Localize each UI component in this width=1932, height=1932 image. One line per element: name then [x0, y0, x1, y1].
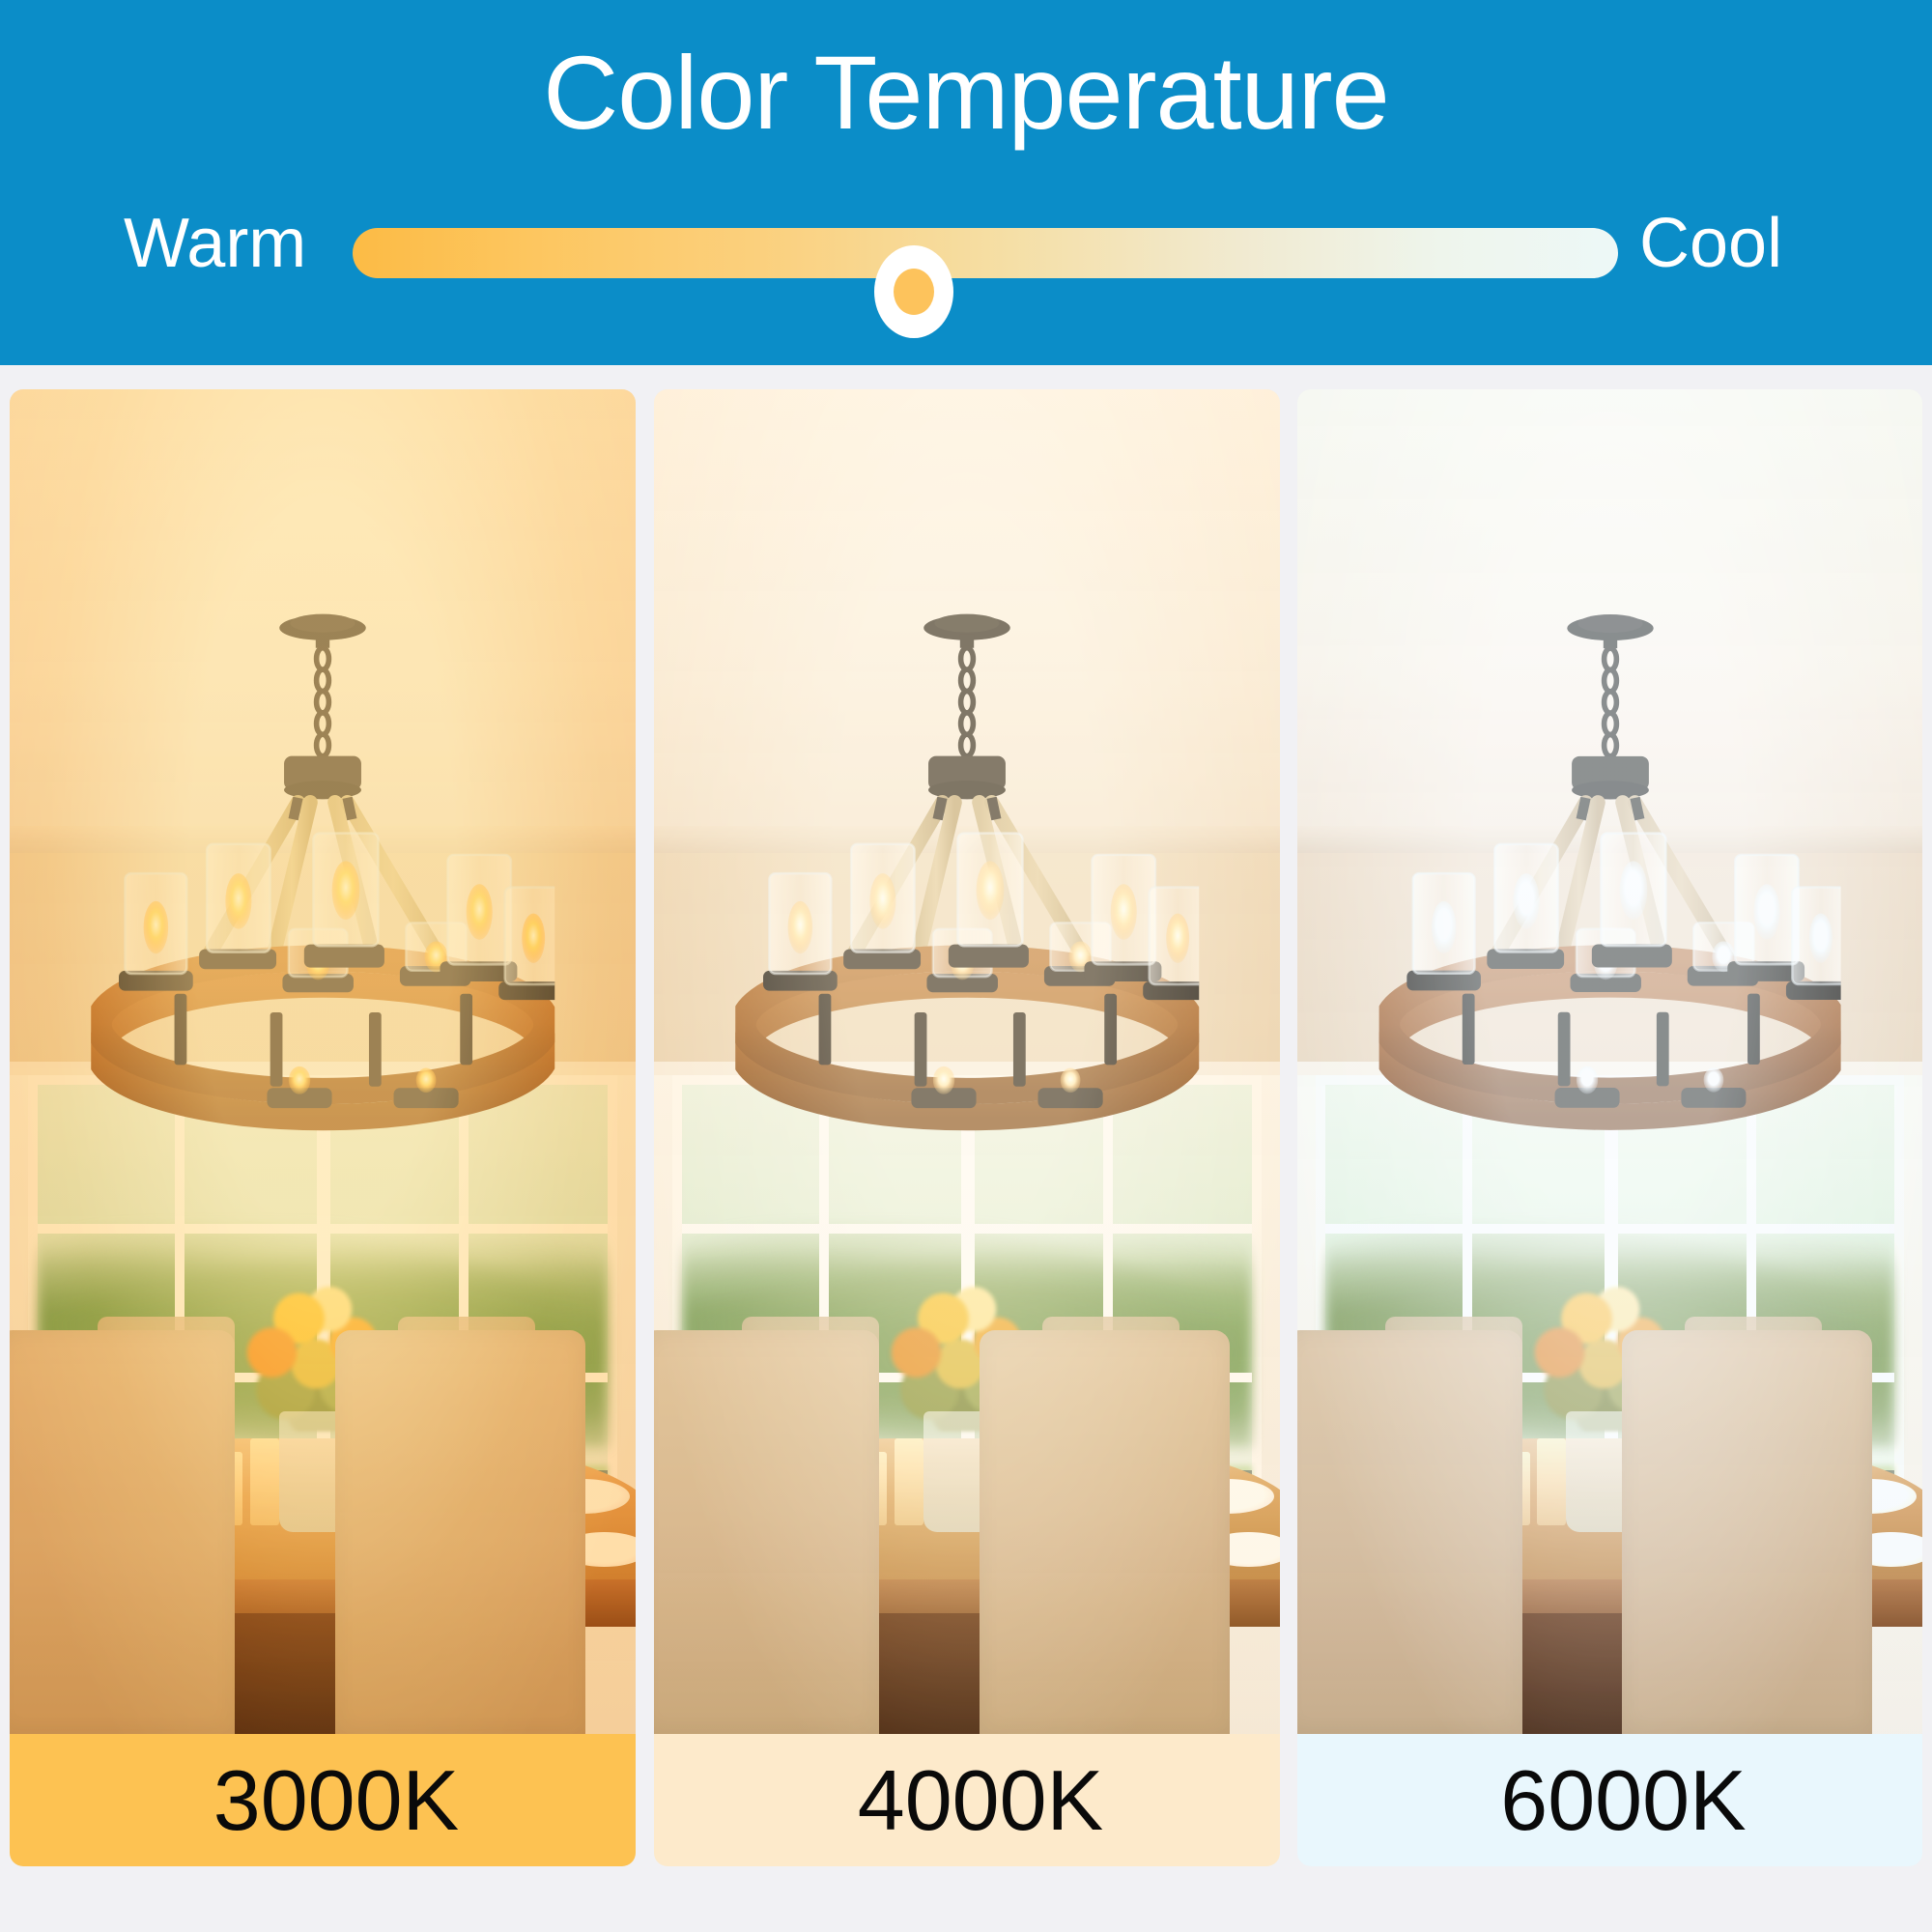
- comparison-panels: 3000K: [0, 389, 1932, 1866]
- candle: [1537, 1438, 1566, 1525]
- caption-4000k: 4000K: [654, 1734, 1280, 1866]
- chair-front-left: [1297, 1330, 1522, 1734]
- candle: [250, 1438, 279, 1525]
- panel-6000k[interactable]: 6000K: [1297, 389, 1922, 1866]
- candle: [895, 1438, 923, 1525]
- header-banner: Color Temperature Warm Cool: [0, 0, 1932, 365]
- chair-front-right: [1622, 1330, 1872, 1734]
- page-title: Color Temperature: [0, 37, 1932, 150]
- caption-label: 6000K: [1500, 1758, 1746, 1843]
- panel-3000k[interactable]: 3000K: [10, 389, 636, 1866]
- slider-label-cool: Cool: [1639, 209, 1782, 278]
- caption-6000k: 6000K: [1297, 1734, 1922, 1866]
- slider-label-warm: Warm: [124, 209, 306, 278]
- panel-4000k[interactable]: 4000K: [654, 389, 1280, 1866]
- chair-front-right: [335, 1330, 585, 1734]
- color-temperature-slider[interactable]: Warm Cool: [0, 189, 1932, 325]
- slider-knob[interactable]: [874, 245, 953, 338]
- scene-3000k: [10, 389, 636, 1734]
- wagon-wheel-chandelier: [735, 389, 1199, 1357]
- chair-front-left: [10, 1330, 235, 1734]
- scene-6000k: [1297, 389, 1922, 1734]
- caption-label: 4000K: [858, 1758, 1103, 1843]
- wagon-wheel-chandelier: [1378, 389, 1841, 1357]
- chair-front-left: [654, 1330, 879, 1734]
- slider-track[interactable]: [353, 228, 1618, 278]
- scene-4000k: [654, 389, 1280, 1734]
- caption-label: 3000K: [213, 1758, 459, 1843]
- chair-front-right: [980, 1330, 1230, 1734]
- wagon-wheel-chandelier: [91, 389, 554, 1357]
- caption-3000k: 3000K: [10, 1734, 636, 1866]
